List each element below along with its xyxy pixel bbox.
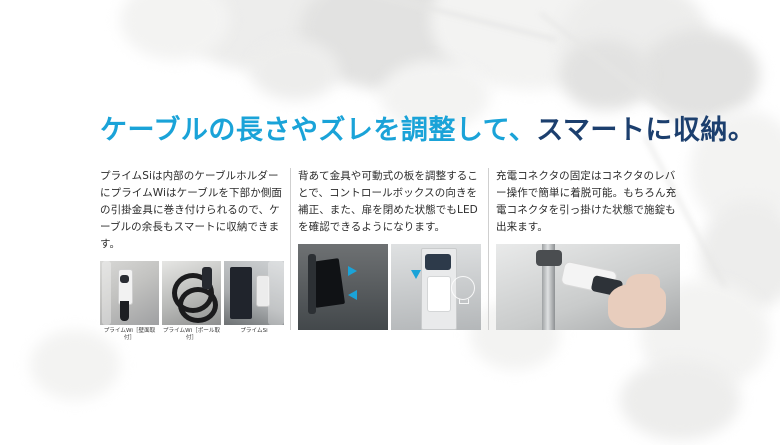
column-2-photos	[298, 244, 482, 330]
column-1-captions: プライムWi［壁面取付］ プライムWi［ポール取付］ プライムSi	[100, 328, 284, 341]
column-1-photos	[100, 261, 284, 325]
headline-segment-navy: スマートに収納。	[536, 115, 755, 146]
photo-prime-wi-wall-mount	[100, 261, 159, 325]
column-1-body: プライムSiは内部のケーブルホルダーにプライムWiはケーブルを下部か側面の引掛金…	[100, 168, 284, 253]
column-divider-right	[488, 168, 489, 330]
content-columns: プライムSiは内部のケーブルホルダーにプライムWiはケーブルを下部か側面の引掛金…	[100, 168, 682, 341]
column-1: プライムSiは内部のケーブルホルダーにプライムWiはケーブルを下部か側面の引掛金…	[100, 168, 284, 341]
column-3-photos	[496, 244, 680, 330]
caption-prime-wi-pole-mount: プライムWi［ポール取付］	[162, 328, 221, 341]
column-2-body: 背あて金具や可動式の板を調整することで、コントロールボックスの向きを補正、また、…	[298, 168, 482, 236]
photo-prime-si	[224, 261, 284, 325]
column-divider-left	[290, 168, 291, 330]
photo-led-check	[391, 244, 481, 330]
column-3-body: 充電コネクタの固定はコネクタのレバー操作で簡単に着脱可能。もちろん充電コネクタを…	[496, 168, 680, 236]
headline-segment-blue: ケーブルの長さやズレを調整して、	[100, 115, 536, 146]
page-title: ケーブルの長さやズレを調整して、スマートに収納。	[100, 108, 755, 147]
photo-prime-wi-pole-mount	[162, 261, 221, 325]
lightbulb-icon	[451, 276, 475, 300]
column-2: 背あて金具や可動式の板を調整することで、コントロールボックスの向きを補正、また、…	[298, 168, 482, 341]
photo-bracket-adjust	[298, 244, 388, 330]
column-3: 充電コネクタの固定はコネクタのレバー操作で簡単に着脱可能。もちろん充電コネクタを…	[496, 168, 680, 341]
page-root: ケーブルの長さやズレを調整して、スマートに収納。 プライムSiは内部のケーブルホ…	[0, 0, 780, 445]
caption-prime-wi-wall-mount: プライムWi［壁面取付］	[100, 328, 159, 341]
caption-prime-si: プライムSi	[224, 328, 284, 341]
photo-connector-lever	[496, 244, 680, 330]
